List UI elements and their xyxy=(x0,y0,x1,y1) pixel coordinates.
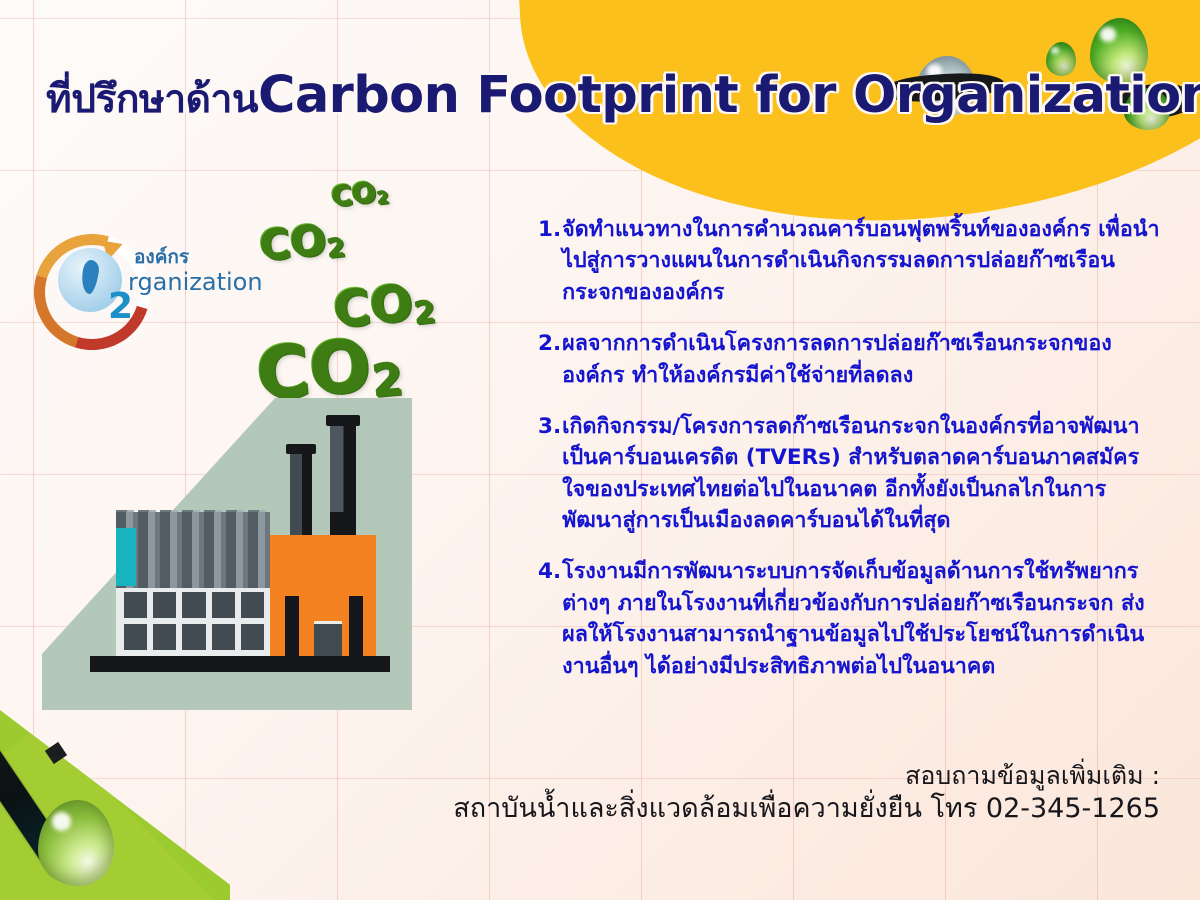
contact-details: สถาบันน้ำและสิ่งแวดล้อมเพื่อความยั่งยืน … xyxy=(360,792,1160,827)
factory-window xyxy=(241,592,264,618)
factory-window xyxy=(241,624,264,650)
list-item-text: ผลจากการดำเนินโครงการลดการปล่อยก๊าซเรือน… xyxy=(562,328,1162,391)
list-item-number: 1. xyxy=(538,214,562,245)
list-item-number: 2. xyxy=(538,328,562,359)
co2-large-sub: 2 xyxy=(410,293,435,331)
title-thai-prefix: ที่ปรึกษาด้าน xyxy=(46,77,258,122)
factory-window xyxy=(212,592,235,618)
factory-window xyxy=(124,624,147,650)
factory-window xyxy=(212,624,235,650)
title-english: Carbon Footprint for Organization xyxy=(258,66,1200,125)
contact-footer: สอบถามข้อมูลเพิ่มเติม : สถาบันน้ำและสิ่ง… xyxy=(360,760,1160,827)
page-title: ที่ปรึกษาด้านCarbon Footprint for Organi… xyxy=(46,66,1176,130)
factory-window-grid xyxy=(124,592,264,650)
list-item-text: เกิดกิจกรรม/โครงการลดก๊าซเรือนกระจกในองค… xyxy=(562,411,1162,537)
list-item: 2. ผลจากการดำเนินโครงการลดการปล่อยก๊าซเร… xyxy=(538,328,1162,391)
list-item: 1. จัดทำแนวทางในการคำนวณคาร์บอนฟุตพริ้นท… xyxy=(538,214,1162,308)
factory-chimney-right-cap xyxy=(326,415,360,426)
factory-sawtooth-wall xyxy=(116,512,270,588)
list-item-number: 4. xyxy=(538,556,562,587)
contact-prompt: สอบถามข้อมูลเพิ่มเติม : xyxy=(360,760,1160,792)
factory-window xyxy=(182,624,205,650)
co2-small-main: CO xyxy=(328,174,376,212)
factory-chimney-left xyxy=(290,450,312,536)
factory-window xyxy=(124,592,147,618)
list-item-text: จัดทำแนวทางในการคำนวณคาร์บอนฟุตพริ้นท์ขอ… xyxy=(562,214,1162,308)
co2-text-medium: CO2 xyxy=(256,212,345,270)
co2-small-sub: 2 xyxy=(374,186,388,207)
factory-door xyxy=(314,621,342,656)
factory-window xyxy=(182,592,205,618)
water-droplet-bottom-left xyxy=(38,800,114,886)
factory-window xyxy=(153,624,176,650)
factory-pillar-left xyxy=(285,596,299,656)
list-item-text: โรงงานมีการพัฒนาระบบการจัดเก็บข้อมูลด้าน… xyxy=(562,556,1162,682)
co2-medium-main: CO xyxy=(256,214,327,270)
list-item-number: 3. xyxy=(538,411,562,442)
factory-pillar-right xyxy=(349,596,363,656)
factory-window xyxy=(153,592,176,618)
list-item: 4. โรงงานมีการพัฒนาระบบการจัดเก็บข้อมูลด… xyxy=(538,556,1162,682)
co2-text-small: CO2 xyxy=(328,173,388,213)
factory-chimney-left-cap xyxy=(286,444,316,454)
factory-chimney-right-band xyxy=(330,512,356,536)
co2-medium-sub: 2 xyxy=(324,232,345,264)
factory-illustration xyxy=(42,398,422,718)
list-item: 3. เกิดกิจกรรม/โครงการลดก๊าซเรือนกระจกใน… xyxy=(538,411,1162,537)
cfo-logo: 2 องค์กร rganization xyxy=(30,232,260,332)
slide-canvas: ที่ปรึกษาด้านCarbon Footprint for Organi… xyxy=(0,0,1200,900)
factory-teal-panel xyxy=(116,528,136,586)
benefits-list: 1. จัดทำแนวทางในการคำนวณคาร์บอนฟุตพริ้นท… xyxy=(538,214,1162,702)
globe-landmass-icon xyxy=(80,259,101,295)
logo-english-label: rganization xyxy=(128,268,263,296)
factory-ground-bar xyxy=(90,656,390,672)
